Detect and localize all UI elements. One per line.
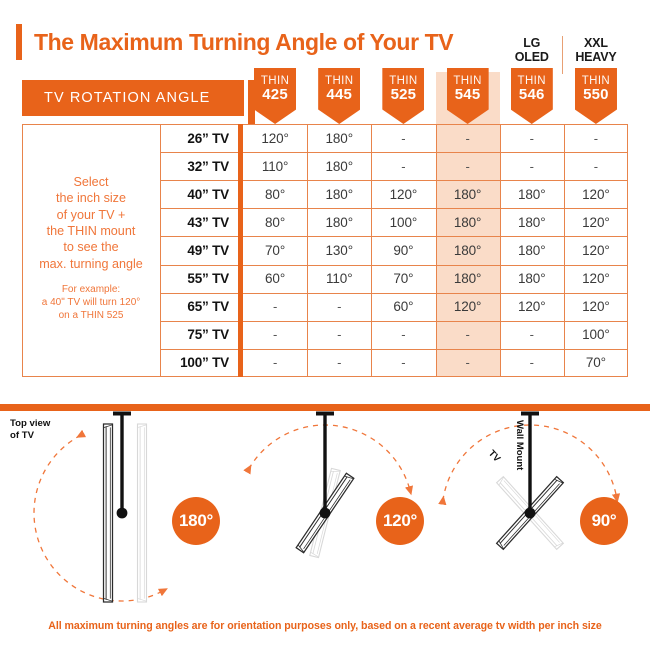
angle-badge-90: 90° [580,497,628,545]
pivot-point [525,508,536,519]
angle-badge-120: 120° [376,497,424,545]
pivot-point [320,508,331,519]
infographic-page: The Maximum Turning Angle of Your TV LG … [0,0,650,650]
wall-mount-label: Wall Mount [514,420,525,470]
angle-badge-180: 180° [172,497,220,545]
tv-panel-ghost [138,424,147,602]
rotation-diagrams [0,0,650,650]
tv-panel-current [104,424,113,602]
footer-note: All maximum turning angles are for orien… [0,620,650,632]
pivot-point [117,508,128,519]
